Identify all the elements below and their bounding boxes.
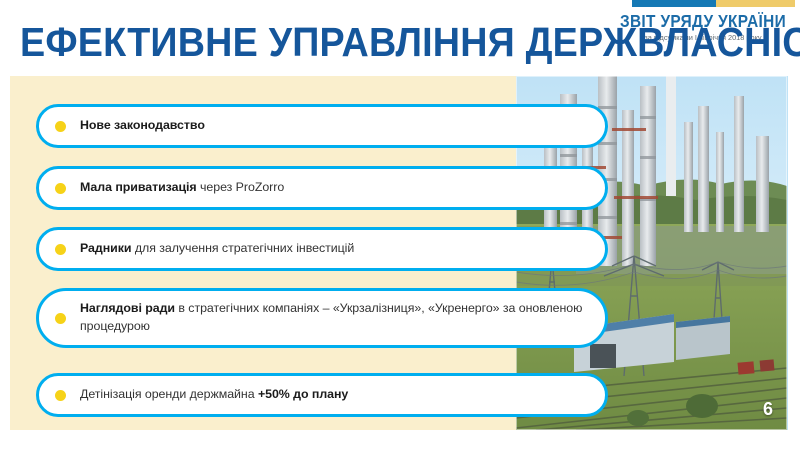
bullet-text: Нове законодавство	[80, 117, 221, 135]
bullet-bold-lead: Мала приватизація	[80, 180, 197, 194]
bullet-item-lease-deshadowing[interactable]: Детінізація оренди держмайна +50% до пла…	[36, 373, 608, 417]
bullet-item-supervisory-boards[interactable]: Наглядові ради в стратегічних компаніях …	[36, 288, 608, 348]
header-stripe-yellow	[716, 0, 795, 7]
bullet-rest: через ProZorro	[197, 180, 285, 194]
header-stripe-blue	[632, 0, 716, 7]
bullet-rest: для залучення стратегічних інвестицій	[131, 241, 354, 255]
bullet-dot-icon	[55, 390, 66, 401]
bullet-dot-icon	[55, 121, 66, 132]
bullet-item-advisors[interactable]: Радники для залучення стратегічних інвес…	[36, 227, 608, 271]
bullet-text: Радники для залучення стратегічних інвес…	[80, 240, 370, 258]
bullet-text: Наглядові ради в стратегічних компаніях …	[80, 300, 605, 336]
slide-canvas: ЗВІТ УРЯДУ УКРАЇНИ за підсумками I піврі…	[0, 0, 800, 450]
bullet-dot-icon	[55, 183, 66, 194]
bullet-bold-tail: +50% до плану	[258, 387, 348, 401]
bullet-text: Детінізація оренди держмайна +50% до пла…	[80, 386, 364, 404]
bullet-item-new-legislation[interactable]: Нове законодавство	[36, 104, 608, 148]
page-number: 6	[763, 400, 773, 418]
page-title: ЕФЕКТИВНЕ УПРАВЛІННЯ ДЕРЖВЛАСНІСТЮ	[20, 22, 800, 63]
bullet-dot-icon	[55, 313, 66, 324]
bullet-item-small-privatization[interactable]: Мала приватизація через ProZorro	[36, 166, 608, 210]
bullet-bold-lead: Нове законодавство	[80, 118, 205, 132]
bullet-text: Мала приватизація через ProZorro	[80, 179, 300, 197]
bullet-dot-icon	[55, 244, 66, 255]
bullet-rest: Детінізація оренди держмайна	[80, 387, 258, 401]
bullet-bold-lead: Наглядові ради	[80, 301, 175, 315]
bullet-bold-lead: Радники	[80, 241, 131, 255]
